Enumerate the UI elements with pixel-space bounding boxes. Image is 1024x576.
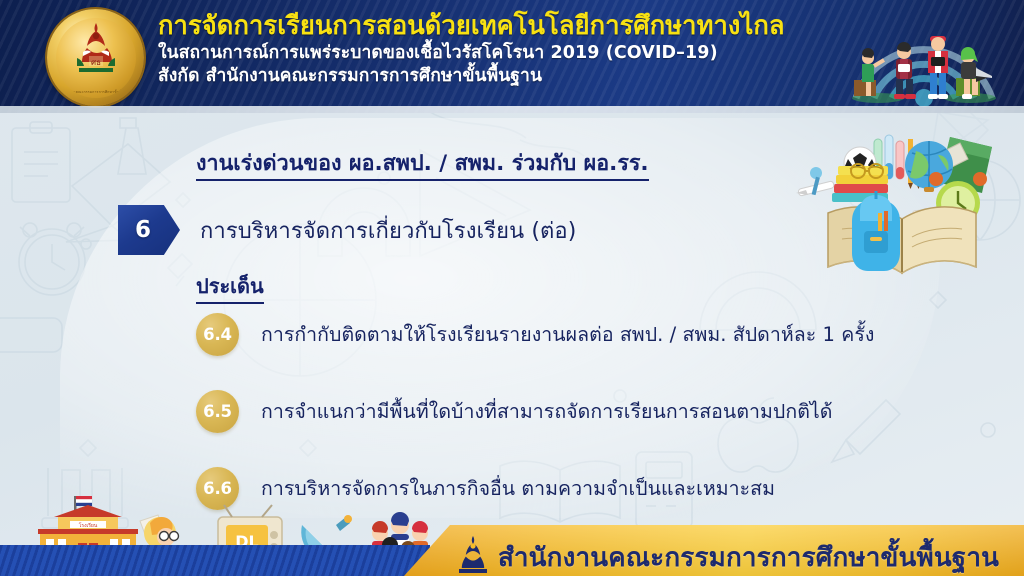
bullet-number-badge: 6.5 (196, 390, 239, 433)
emblem-ring-text: สำนักงานคณะกรรมการการศึกษาขั้นพื้นฐาน (56, 90, 136, 95)
bullet-text: การกำกับติดตามให้โรงเรียนรายงานผลต่อ สพป… (261, 322, 874, 347)
slide-title: การจัดการเรียนการสอนด้วยเทคโนโลยีการศึกษ… (158, 12, 848, 42)
slide-subtitle-line-2: สังกัด สำนักงานคณะกรรมการการศึกษาขั้นพื้… (158, 65, 848, 89)
svg-text:โรงเรียน: โรงเรียน (79, 522, 98, 529)
header-title-block: การจัดการเรียนการสอนด้วยเทคโนโลยีการศึกษ… (158, 12, 848, 89)
slide-content: งานเร่งด่วนของ ผอ.สพป. / สพม. ร่วมกับ ผอ… (0, 113, 1024, 513)
step-row: 6 การบริหารจัดการเกี่ยวกับโรงเรียน (ต่อ) (118, 205, 576, 255)
step-number-badge: 6 (118, 205, 180, 255)
slide-canvas: ศธ สำนักงานคณะกรรมการการศึกษาขั้นพื้นฐาน… (0, 0, 1024, 576)
footer-organization-name: สำนักงานคณะกรรมการการศึกษาขั้นพื้นฐาน (498, 537, 999, 576)
bullet-number-badge: 6.4 (196, 313, 239, 356)
slide-footer: โรงเรียน (0, 513, 1024, 576)
list-item: 6.5 การจำแนกว่ามีพื้นที่ใดบ้างที่สามารถจ… (196, 390, 986, 433)
list-item: 6.4 การกำกับติดตามให้โรงเรียนรายงานผลต่อ… (196, 313, 986, 356)
slide-subtitle-line-1: ในสถานการณ์การแพร่ระบาดของเชื้อไวรัสโคโร… (158, 42, 848, 66)
header-bottom-edge (0, 106, 1024, 113)
slide-header: ศธ สำนักงานคณะกรรมการการศึกษาขั้นพื้นฐาน… (0, 0, 1024, 113)
issues-label: ประเด็น (196, 270, 264, 304)
footer-obec-emblem (455, 535, 491, 576)
step-title: การบริหารจัดการเกี่ยวกับโรงเรียน (ต่อ) (200, 213, 576, 248)
obec-emblem: ศธ สำนักงานคณะกรรมการการศึกษาขั้นพื้นฐาน (47, 9, 144, 106)
bullet-text: การจำแนกว่ามีพื้นที่ใดบ้างที่สามารถจัดกา… (261, 399, 833, 424)
step-number: 6 (135, 217, 151, 243)
open-book-school-supplies-illustration (790, 125, 1022, 283)
footer-blue-strip (0, 545, 430, 576)
section-heading: งานเร่งด่วนของ ผอ.สพป. / สพม. ร่วมกับ ผอ… (196, 151, 649, 181)
svg-text:ศธ: ศธ (91, 58, 101, 67)
students-with-wifi-illustration (838, 2, 1016, 108)
